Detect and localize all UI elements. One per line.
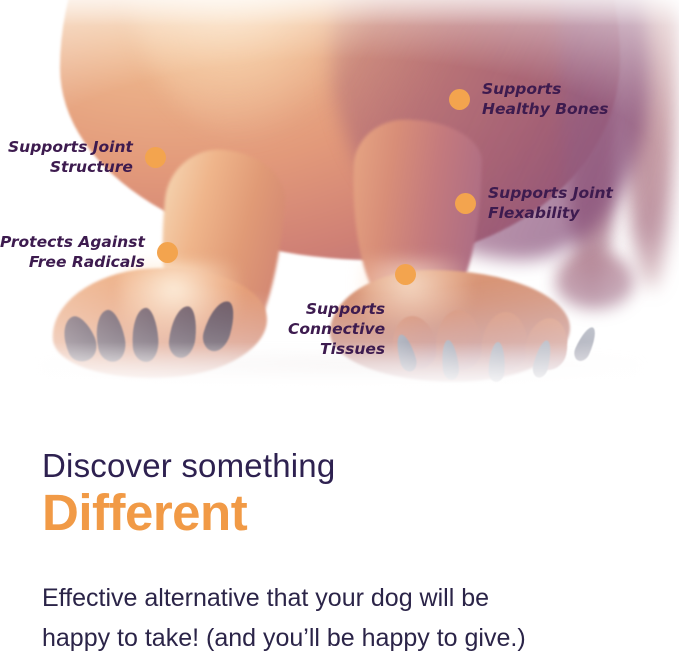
callout-connective-tissues: Supports Connective Tissues xyxy=(288,264,416,359)
body-paragraph: Effective alternative that your dog will… xyxy=(42,578,662,658)
background-hind-foot xyxy=(556,250,634,310)
callout-free-radicals: Protects Against Free Radicals xyxy=(0,233,178,273)
callout-joint-flexability: Supports Joint Flexability xyxy=(455,184,613,224)
bullet-dot-icon xyxy=(395,264,416,285)
callout-label-joint-structure: Supports Joint Structure xyxy=(8,138,133,178)
bullet-dot-icon xyxy=(449,89,470,110)
callout-label-joint-flexability: Supports Joint Flexability xyxy=(488,184,613,224)
callout-label-connective-tissues: Supports Connective Tissues xyxy=(288,300,385,359)
bullet-dot-icon xyxy=(455,193,476,214)
bullet-dot-icon xyxy=(145,147,166,168)
callout-label-free-radicals: Protects Against Free Radicals xyxy=(0,233,145,273)
callout-label-healthy-bones: Supports Healthy Bones xyxy=(482,80,608,120)
headline-line-2: Different xyxy=(42,486,662,540)
headline-line-1: Discover something xyxy=(42,448,662,484)
bullet-dot-icon xyxy=(157,242,178,263)
product-infographic-page: Supports Joint Structure Protects Agains… xyxy=(0,0,679,672)
callout-healthy-bones: Supports Healthy Bones xyxy=(449,80,608,120)
callout-joint-structure: Supports Joint Structure xyxy=(8,138,166,178)
marketing-copy-block: Discover something Different Effective a… xyxy=(42,448,662,658)
